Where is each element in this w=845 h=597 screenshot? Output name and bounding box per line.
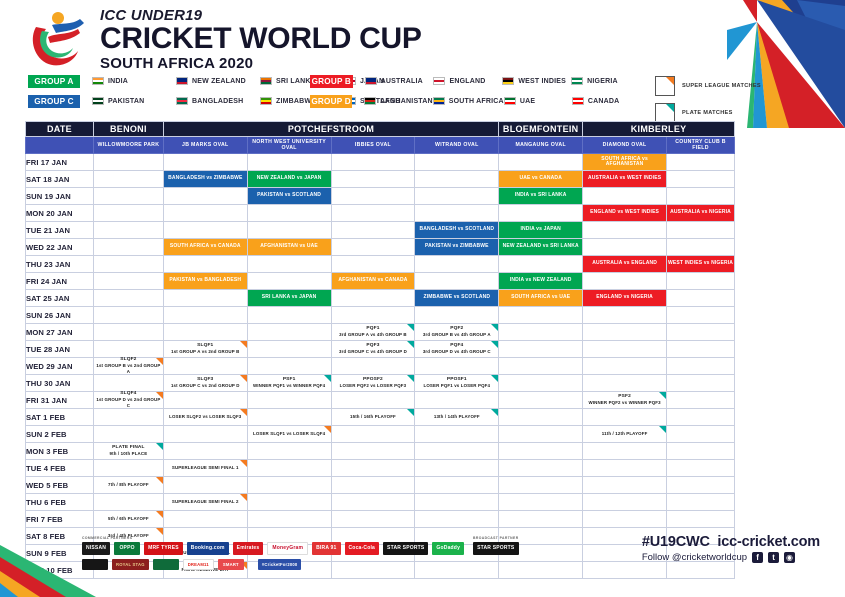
group-row-group-d: GROUP DAFGHANISTANSOUTH AFRICAUAECANADA	[310, 94, 640, 108]
match-cell[interactable]: AFGHANISTAN vs CANADA	[331, 273, 415, 290]
plate-swatch-icon	[655, 103, 675, 123]
empty-cell	[583, 443, 667, 460]
empty-cell	[415, 205, 499, 222]
match-label: ZIMBABWE vs SCOTLAND	[415, 290, 498, 306]
match-cell[interactable]: SRI LANKA vs JAPAN	[247, 290, 331, 307]
empty-cell	[499, 205, 583, 222]
playoff-cell[interactable]: PSF2WINNER PQF2 vs WINNER PQF3	[583, 392, 667, 409]
plate-marker-icon	[156, 443, 163, 450]
plate-marker-icon	[407, 324, 414, 331]
empty-cell	[93, 171, 163, 188]
playoff-label: LOSER SLQF2 vs LOSER SLQF3	[164, 409, 247, 425]
empty-cell	[93, 307, 163, 324]
sponsor-logo: Booking.com	[187, 542, 229, 555]
empty-cell	[667, 290, 735, 307]
hashtag: #U19CWC	[642, 534, 710, 550]
match-cell[interactable]: NEW ZEALAND vs JAPAN	[247, 171, 331, 188]
match-cell[interactable]: WEST INDIES vs NIGERIA	[667, 256, 735, 273]
empty-cell	[163, 205, 247, 222]
match-cell[interactable]: INDIA vs SRI LANKA	[499, 188, 583, 205]
row-date: MON 20 JAN	[26, 205, 94, 222]
match-label: AUSTRALIA vs ENGLAND	[583, 256, 666, 272]
match-cell[interactable]: SOUTH AFRICA vs AFGHANISTAN	[583, 154, 667, 171]
team-bangladesh: BANGLADESH	[176, 97, 260, 105]
empty-cell	[163, 358, 247, 375]
playoff-subtitle: SUPERLEAGUE SEMI FINAL 2	[172, 499, 239, 505]
empty-cell	[247, 460, 331, 477]
empty-cell	[93, 375, 163, 392]
schedule-poster: ICC UNDER19 CRICKET WORLD CUP SOUTH AFRI…	[0, 0, 845, 597]
match-cell[interactable]: PAKISTAN vs SCOTLAND	[247, 188, 331, 205]
match-cell[interactable]: PAKISTAN vs BANGLADESH	[163, 273, 247, 290]
empty-cell	[583, 409, 667, 426]
empty-cell	[667, 324, 735, 341]
plate-marker-icon	[407, 409, 414, 416]
empty-cell	[583, 358, 667, 375]
match-cell[interactable]: NEW ZEALAND vs SRI LANKA	[499, 239, 583, 256]
flag-icon-australia	[365, 77, 377, 85]
flag-icon-uae	[504, 97, 516, 105]
venue-header-row: WILLOWMOORE PARKJB MARKS OVALNORTH WEST …	[26, 137, 735, 154]
row-date: FRI 31 JAN	[26, 392, 94, 409]
broadcast-partner-logo: STAR SPORTS	[473, 542, 519, 555]
empty-cell	[331, 154, 415, 171]
plate-marker-icon	[491, 409, 498, 416]
playoff-cell[interactable]: PQF23rd GROUP B vs 4th GROUP A	[415, 324, 499, 341]
match-label: NEW ZEALAND vs SRI LANKA	[499, 239, 582, 255]
playoff-label: SLQF11st GROUP A vs 2nd GROUP B	[164, 341, 247, 357]
playoff-subtitle: 3rd GROUP A vs 4th GROUP B	[339, 332, 407, 338]
playoff-cell[interactable]: PQF43rd GROUP D vs 4th GROUP C	[415, 341, 499, 358]
team-label: NEW ZEALAND	[192, 78, 246, 85]
playoff-subtitle: LOSER SLQF1 vs LOSER SLQF4	[253, 431, 325, 437]
match-cell[interactable]: ENGLAND vs WEST INDIES	[583, 205, 667, 222]
team-label: BANGLADESH	[192, 98, 243, 105]
empty-cell	[667, 443, 735, 460]
table-row: SAT 18 JANBANGLADESH vs ZIMBABWENEW ZEAL…	[26, 171, 735, 188]
flag-icon-england	[433, 77, 445, 85]
playoff-label: PQF33rd GROUP C vs 4th GROUP D	[332, 341, 415, 357]
empty-cell	[583, 562, 667, 579]
match-label: SOUTH AFRICA vs AFGHANISTAN	[583, 154, 666, 170]
header-venue-ibbies-oval: IBBIES OVAL	[331, 137, 415, 154]
team-label: ENGLAND	[449, 78, 485, 85]
team-afghanistan: AFGHANISTAN	[364, 97, 433, 105]
match-label: AFGHANISTAN vs UAE	[248, 239, 331, 255]
empty-cell	[93, 205, 163, 222]
empty-cell	[583, 375, 667, 392]
match-cell[interactable]: ZIMBABWE vs SCOTLAND	[415, 290, 499, 307]
super-league-marker-icon	[240, 460, 247, 467]
row-date: TUE 21 JAN	[26, 222, 94, 239]
match-cell[interactable]: AUSTRALIA vs ENGLAND	[583, 256, 667, 273]
empty-cell	[331, 392, 415, 409]
match-cell[interactable]: AFGHANISTAN vs UAE	[247, 239, 331, 256]
playoff-cell[interactable]: PLATE FINAL9th / 10th PLACE	[93, 443, 163, 460]
playoff-cell[interactable]: SUPERLEAGUE SEMI FINAL 1	[163, 460, 247, 477]
super-league-marker-icon	[240, 375, 247, 382]
playoff-cell[interactable]: SLQF21st GROUP B vs 2nd GROUP A	[93, 358, 163, 375]
match-label: AUSTRALIA vs NIGERIA	[667, 205, 734, 221]
playoff-subtitle: 1st GROUP A vs 2nd GROUP B	[171, 349, 239, 355]
plate-marker-icon	[324, 375, 331, 382]
match-label: INDIA vs JAPAN	[499, 222, 582, 238]
playoff-label: 15th / 16th PLAYOFF	[332, 409, 415, 425]
empty-cell	[499, 324, 583, 341]
team-label: SOUTH AFRICA	[449, 98, 504, 105]
header-city-bloemfontein: BLOEMFONTEIN	[499, 122, 583, 137]
empty-cell	[415, 256, 499, 273]
website-url[interactable]: icc-cricket.com	[717, 534, 820, 550]
empty-cell	[331, 171, 415, 188]
match-cell[interactable]: BANGLADESH vs ZIMBABWE	[163, 171, 247, 188]
super-league-marker-icon	[240, 494, 247, 501]
playoff-label: PQF13rd GROUP A vs 4th GROUP B	[332, 324, 415, 340]
sponsor-block: COMMERCIAL PARTNERS NISSANOPPOMRF TYRESB…	[82, 536, 464, 574]
empty-cell	[163, 426, 247, 443]
empty-cell	[331, 188, 415, 205]
playoff-label: PPOSF1LOSER PQF1 vs LOSER PQF4	[415, 375, 498, 391]
empty-cell	[499, 341, 583, 358]
empty-cell	[247, 154, 331, 171]
sponsor-logo: MoneyGram	[267, 542, 308, 555]
table-row: TUE 21 JANBANGLADESH vs SCOTLANDINDIA vs…	[26, 222, 735, 239]
empty-cell	[93, 426, 163, 443]
empty-cell	[499, 426, 583, 443]
playoff-subtitle: 13th / 14th PLAYOFF	[434, 414, 480, 420]
flag-icon-west-indies	[502, 77, 514, 85]
playoff-subtitle: LOSER SLQF2 vs LOSER SLQF3	[169, 414, 241, 420]
table-row: THU 6 FEBSUPERLEAGUE SEMI FINAL 2	[26, 494, 735, 511]
empty-cell	[163, 477, 247, 494]
team-label: NIGERIA	[587, 78, 618, 85]
playoff-label: PLATE FINAL9th / 10th PLACE	[94, 443, 163, 459]
playoff-subtitle: 3rd GROUP C vs 4th GROUP D	[339, 349, 407, 355]
super-league-marker-icon	[156, 358, 163, 365]
empty-cell	[247, 222, 331, 239]
empty-cell	[93, 222, 163, 239]
header-city-potchefstroom: POTCHEFSTROOM	[163, 122, 498, 137]
empty-cell	[499, 409, 583, 426]
empty-cell	[667, 341, 735, 358]
table-row: FRI 7 FEB5th / 6th PLAYOFF	[26, 511, 735, 528]
row-date: TUE 28 JAN	[26, 341, 94, 358]
flag-icon-nigeria	[571, 77, 583, 85]
flag-icon-pakistan	[92, 97, 104, 105]
row-date: FRI 17 JAN	[26, 154, 94, 171]
header-venue-witrand-oval: WITRAND OVAL	[415, 137, 499, 154]
playoff-cell[interactable]: LOSER SLQF1 vs LOSER SLQF4	[247, 426, 331, 443]
header-venue-jb-marks-oval: JB MARKS OVAL	[163, 137, 247, 154]
empty-cell	[499, 443, 583, 460]
empty-cell	[415, 171, 499, 188]
empty-cell	[499, 562, 583, 579]
team-label: AUSTRALIA	[381, 78, 423, 85]
playoff-cell[interactable]: 7th / 8th PLAYOFF	[93, 477, 163, 494]
flag-icon-india	[92, 77, 104, 85]
plate-label: PLATE MATCHES	[682, 110, 733, 116]
row-date: SAT 18 JAN	[26, 171, 94, 188]
playoff-cell[interactable]: 13th / 14th PLAYOFF	[415, 409, 499, 426]
empty-cell	[499, 460, 583, 477]
super-league-label: SUPER LEAGUE MATCHES	[682, 83, 761, 89]
table-row: MON 20 JANENGLAND vs WEST INDIESAUSTRALI…	[26, 205, 735, 222]
empty-cell	[247, 443, 331, 460]
match-cell[interactable]: BANGLADESH vs SCOTLAND	[415, 222, 499, 239]
match-label: SOUTH AFRICA vs UAE	[499, 290, 582, 306]
table-row: MON 3 FEBPLATE FINAL9th / 10th PLACE	[26, 443, 735, 460]
playoff-subtitle: 5th / 6th PLAYOFF	[108, 516, 149, 522]
playoff-label: 5th / 6th PLAYOFF	[94, 511, 163, 527]
empty-cell	[667, 188, 735, 205]
playoff-cell[interactable]: 15th / 16th PLAYOFF	[331, 409, 415, 426]
table-row: WED 5 FEB7th / 8th PLAYOFF	[26, 477, 735, 494]
super-league-marker-icon	[156, 528, 163, 535]
team-uae: UAE	[504, 97, 572, 105]
title-line-1: ICC UNDER19	[100, 8, 422, 23]
super-league-marker-icon	[324, 426, 331, 433]
playoff-subtitle: 1st GROUP B vs 2nd GROUP A	[96, 363, 161, 375]
table-row: SUN 19 JANPAKISTAN vs SCOTLANDINDIA vs S…	[26, 188, 735, 205]
row-date: THU 30 JAN	[26, 375, 94, 392]
table-row: FRI 24 JANPAKISTAN vs BANGLADESHAFGHANIS…	[26, 273, 735, 290]
playoff-subtitle: LOSER PQF2 vs LOSER PQF3	[340, 383, 407, 389]
empty-cell	[667, 494, 735, 511]
sponsor-logo	[153, 559, 179, 570]
match-label: PAKISTAN vs ZIMBABWE	[415, 239, 498, 255]
playoff-cell[interactable]: SUPERLEAGUE SEMI FINAL 2	[163, 494, 247, 511]
empty-cell	[499, 154, 583, 171]
empty-cell	[331, 256, 415, 273]
playoff-subtitle: WINNER PQF1 vs WINNER PQF4	[253, 383, 325, 389]
sponsor-logo: Emirates	[233, 542, 264, 555]
sponsor-logo: DREAM11	[183, 559, 214, 570]
match-label: SOUTH AFRICA vs CANADA	[164, 239, 247, 255]
empty-cell	[499, 494, 583, 511]
team-label: CANADA	[588, 98, 620, 105]
match-cell[interactable]: UAE vs CANADA	[499, 171, 583, 188]
sponsor-row-secondary: ROYAL STAGDREAM11SMART#CricketFor2000	[82, 559, 464, 570]
match-cell[interactable]: AUSTRALIA vs NIGERIA	[667, 205, 735, 222]
team-label: INDIA	[108, 78, 128, 85]
table-row: SAT 25 JANSRI LANKA vs JAPANZIMBABWE vs …	[26, 290, 735, 307]
empty-cell	[247, 205, 331, 222]
empty-cell	[667, 273, 735, 290]
playoff-cell[interactable]: PSF1WINNER PQF1 vs WINNER PQF4	[247, 375, 331, 392]
playoff-subtitle: LOSER PQF1 vs LOSER PQF4	[424, 383, 491, 389]
header-venue-country-club-b-field: COUNTRY CLUB B FIELD	[667, 137, 735, 154]
empty-cell	[667, 460, 735, 477]
playoff-label: PQF23rd GROUP B vs 4th GROUP A	[415, 324, 498, 340]
empty-cell	[415, 273, 499, 290]
match-cell[interactable]: INDIA vs JAPAN	[499, 222, 583, 239]
flag-icon-south-africa	[433, 97, 445, 105]
empty-cell	[331, 511, 415, 528]
group-tag: GROUP D	[310, 95, 352, 108]
empty-cell	[583, 222, 667, 239]
empty-cell	[583, 307, 667, 324]
playoff-cell[interactable]: PPOSF2LOSER PQF2 vs LOSER PQF3	[331, 375, 415, 392]
table-row: SAT 1 FEBLOSER SLQF2 vs LOSER SLQF315th …	[26, 409, 735, 426]
empty-cell	[163, 154, 247, 171]
empty-cell	[667, 477, 735, 494]
match-cell[interactable]: PAKISTAN vs ZIMBABWE	[415, 239, 499, 256]
playoff-label: SLQF31st GROUP C vs 2nd GROUP D	[164, 375, 247, 391]
empty-cell	[163, 324, 247, 341]
group-tag: GROUP C	[28, 95, 80, 108]
playoff-cell[interactable]: LOSER SLQF2 vs LOSER SLQF3	[163, 409, 247, 426]
sponsor-logo: GoDaddy	[432, 542, 464, 555]
match-label: ENGLAND vs WEST INDIES	[583, 205, 666, 221]
group-tag: GROUP A	[28, 75, 80, 88]
row-date: SUN 2 FEB	[26, 426, 94, 443]
team-pakistan: PAKISTAN	[92, 97, 176, 105]
match-label: NEW ZEALAND vs JAPAN	[248, 171, 331, 187]
empty-cell	[247, 494, 331, 511]
empty-cell	[415, 443, 499, 460]
playoff-subtitle: SUPERLEAGUE SEMI FINAL 1	[172, 465, 239, 471]
sponsor-logo: BIRA 91	[312, 542, 340, 555]
header-venue-north-west-university-oval: NORTH WEST UNIVERSITY OVAL	[247, 137, 331, 154]
plate-marker-icon	[491, 341, 498, 348]
empty-cell	[583, 341, 667, 358]
playoff-cell[interactable]: PQF13rd GROUP A vs 4th GROUP B	[331, 324, 415, 341]
instagram-icon[interactable]: ◉	[784, 552, 795, 563]
hashtag-and-website: #U19CWC icc-cricket.com	[642, 534, 820, 550]
row-date: MON 3 FEB	[26, 443, 94, 460]
table-row: WED 29 JANSLQF21st GROUP B vs 2nd GROUP …	[26, 358, 735, 375]
match-label: ENGLAND vs NIGERIA	[583, 290, 666, 306]
header-venue-diamond-oval: DIAMOND OVAL	[583, 137, 667, 154]
flag-icon-new-zealand	[176, 77, 188, 85]
group-tag: GROUP B	[310, 75, 353, 88]
empty-cell	[667, 409, 735, 426]
twitter-icon[interactable]: t	[768, 552, 779, 563]
team-england: ENGLAND	[433, 77, 502, 85]
flag-icon-canada	[572, 97, 584, 105]
broadcast-partner-label: BROADCAST PARTNER	[473, 536, 519, 540]
schedule-body: FRI 17 JANSOUTH AFRICA vs AFGHANISTANSAT…	[26, 154, 735, 579]
empty-cell	[247, 409, 331, 426]
flag-icon-sri-lanka	[260, 77, 272, 85]
playoff-label: PPOSF2LOSER PQF2 vs LOSER PQF3	[332, 375, 415, 391]
header-city-kimberley: KIMBERLEY	[583, 122, 735, 137]
table-row: THU 30 JANSLQF31st GROUP C vs 2nd GROUP …	[26, 375, 735, 392]
team-west-indies: WEST INDIES	[502, 77, 571, 85]
playoff-label: 13th / 14th PLAYOFF	[415, 409, 498, 425]
empty-cell	[93, 409, 163, 426]
empty-cell	[93, 188, 163, 205]
empty-cell	[93, 341, 163, 358]
empty-cell	[93, 494, 163, 511]
empty-cell	[667, 426, 735, 443]
match-cell[interactable]: INDIA vs NEW ZEALAND	[499, 273, 583, 290]
empty-cell	[331, 494, 415, 511]
plate-marker-icon	[659, 392, 666, 399]
team-label: UAE	[520, 98, 535, 105]
playoff-cell[interactable]: 11th / 12th PLAYOFF	[583, 426, 667, 443]
empty-cell	[163, 188, 247, 205]
empty-cell	[415, 307, 499, 324]
row-date: MON 27 JAN	[26, 324, 94, 341]
groups-legend-right: GROUP BAUSTRALIAENGLANDWEST INDIESNIGERI…	[310, 74, 640, 114]
empty-cell	[499, 392, 583, 409]
row-date: FRI 24 JAN	[26, 273, 94, 290]
playoff-subtitle: 1st GROUP C vs 2nd GROUP D	[171, 383, 240, 389]
empty-cell	[331, 290, 415, 307]
match-cell[interactable]: ENGLAND vs NIGERIA	[583, 290, 667, 307]
playoff-label: PSF1WINNER PQF1 vs WINNER PQF4	[248, 375, 331, 391]
team-india: INDIA	[92, 77, 176, 85]
playoff-cell[interactable]: SLQF41st GROUP D vs 2nd GROUP C	[93, 392, 163, 409]
playoff-cell[interactable]: 5th / 6th PLAYOFF	[93, 511, 163, 528]
facebook-icon[interactable]: f	[752, 552, 763, 563]
header-venue-mangaung-oval: MANGAUNG OVAL	[499, 137, 583, 154]
sponsor-logo: Coca-Cola	[345, 542, 380, 555]
playoff-cell[interactable]: PPOSF1LOSER PQF1 vs LOSER PQF4	[415, 375, 499, 392]
match-cell[interactable]: SOUTH AFRICA vs CANADA	[163, 239, 247, 256]
empty-cell	[93, 256, 163, 273]
empty-cell	[499, 307, 583, 324]
empty-cell	[93, 460, 163, 477]
empty-cell	[583, 273, 667, 290]
broadcast-partner-block: BROADCAST PARTNER STAR SPORTS	[473, 536, 519, 555]
team-nigeria: NIGERIA	[571, 77, 640, 85]
sponsor-logo: NISSAN	[82, 542, 110, 555]
playoff-cell[interactable]: SLQF31st GROUP C vs 2nd GROUP D	[163, 375, 247, 392]
empty-cell	[163, 511, 247, 528]
empty-cell	[247, 341, 331, 358]
empty-cell	[163, 222, 247, 239]
playoff-cell[interactable]: PQF33rd GROUP C vs 4th GROUP D	[331, 341, 415, 358]
team-label: PAKISTAN	[108, 98, 144, 105]
playoff-label: SLQF41st GROUP D vs 2nd GROUP C	[94, 392, 163, 408]
plate-marker-icon	[491, 375, 498, 382]
empty-cell	[415, 426, 499, 443]
empty-cell	[583, 477, 667, 494]
row-date: TUE 4 FEB	[26, 460, 94, 477]
table-row: SUN 26 JAN	[26, 307, 735, 324]
sponsor-logo: ROYAL STAG	[112, 559, 149, 570]
empty-cell	[667, 562, 735, 579]
playoff-subtitle: 1st GROUP D vs 2nd GROUP C	[96, 397, 161, 409]
sponsor-logo: MRF TYRES	[144, 542, 183, 555]
empty-cell	[499, 511, 583, 528]
social-block: #U19CWC icc-cricket.com Follow @cricketw…	[642, 534, 820, 563]
empty-cell	[583, 239, 667, 256]
empty-cell	[247, 392, 331, 409]
super-league-swatch-icon	[655, 76, 675, 96]
empty-cell	[415, 188, 499, 205]
group-row-group-b: GROUP BAUSTRALIAENGLANDWEST INDIESNIGERI…	[310, 74, 640, 88]
table-row: SUN 2 FEBLOSER SLQF1 vs LOSER SLQF411th …	[26, 426, 735, 443]
empty-cell	[93, 290, 163, 307]
empty-cell	[667, 171, 735, 188]
match-label: PAKISTAN vs SCOTLAND	[248, 188, 331, 204]
match-cell[interactable]: AUSTRALIA vs WEST INDIES	[583, 171, 667, 188]
header-city-benoni: BENONI	[93, 122, 163, 137]
table-row: THU 23 JANAUSTRALIA vs ENGLANDWEST INDIE…	[26, 256, 735, 273]
table-row: TUE 28 JANSLQF11st GROUP A vs 2nd GROUP …	[26, 341, 735, 358]
match-label: BANGLADESH vs ZIMBABWE	[164, 171, 247, 187]
playoff-cell[interactable]: SLQF11st GROUP A vs 2nd GROUP B	[163, 341, 247, 358]
empty-cell	[247, 256, 331, 273]
empty-cell	[415, 392, 499, 409]
flag-icon-bangladesh	[176, 97, 188, 105]
match-cell[interactable]: SOUTH AFRICA vs UAE	[499, 290, 583, 307]
sponsor-logo	[82, 559, 108, 570]
empty-cell	[163, 256, 247, 273]
